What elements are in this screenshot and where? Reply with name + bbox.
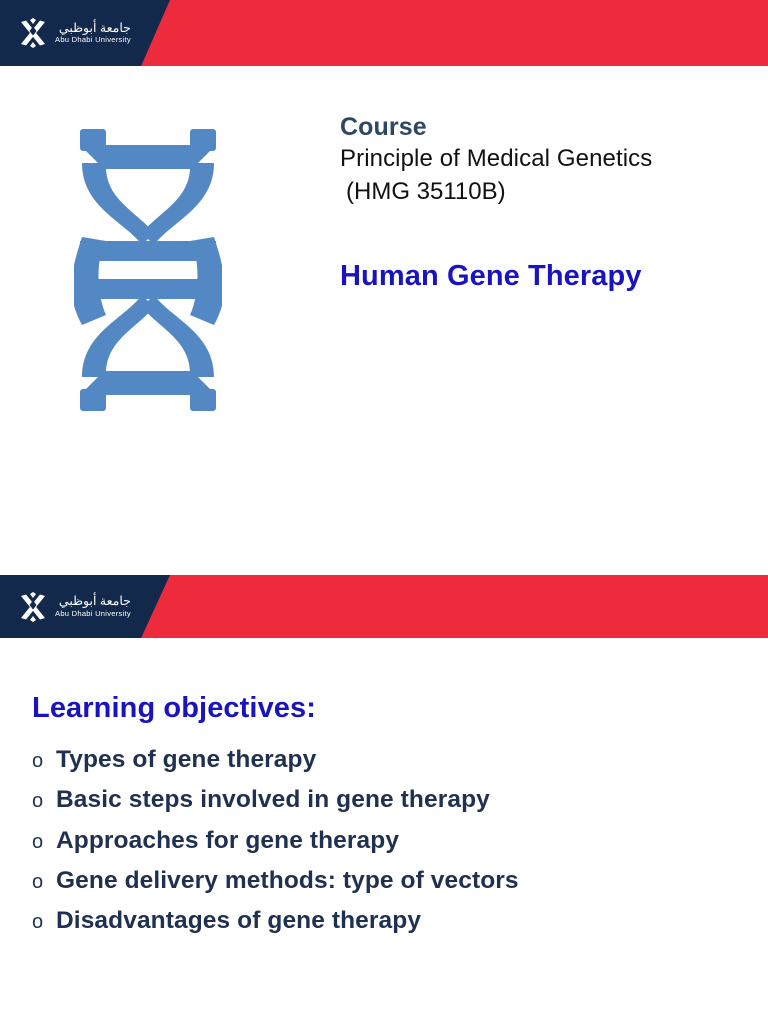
- bullet-o-icon: o: [32, 749, 45, 775]
- logo-english-name-2: Abu Dhabi University: [55, 610, 131, 618]
- logo-arabic-name: جامعة أبوظبي: [55, 22, 131, 35]
- title-slide: Course Principle of Medical Genetics (HM…: [0, 66, 768, 575]
- list-item: o Types of gene therapy: [32, 744, 732, 775]
- university-logo-2: جامعة أبوظبي Abu Dhabi University: [18, 592, 131, 622]
- bullet-o-icon: o: [32, 789, 45, 815]
- slide-document: جامعة أبوظبي Abu Dhabi University: [0, 0, 768, 1024]
- objective-text: Disadvantages of gene therapy: [56, 905, 421, 936]
- brand-band-top: جامعة أبوظبي Abu Dhabi University: [0, 0, 768, 66]
- logo-wordmark-2: جامعة أبوظبي Abu Dhabi University: [55, 595, 131, 617]
- objective-text: Approaches for gene therapy: [56, 825, 399, 856]
- bullet-o-icon: o: [32, 870, 45, 896]
- brand-band-middle: جامعة أبوظبي Abu Dhabi University: [0, 575, 768, 638]
- course-code: (HMG 35110B): [340, 176, 740, 208]
- list-item: o Approaches for gene therapy: [32, 825, 732, 856]
- page-title: Human Gene Therapy: [340, 260, 642, 293]
- list-item: o Gene delivery methods: type of vectors: [32, 865, 732, 896]
- course-info-block: Course Principle of Medical Genetics (HM…: [340, 112, 740, 208]
- adu-logo-mark-icon-2: [18, 592, 48, 622]
- logo-arabic-name-2: جامعة أبوظبي: [55, 595, 131, 608]
- learning-objectives-slide: Learning objectives: o Types of gene the…: [0, 638, 768, 1024]
- university-logo: جامعة أبوظبي Abu Dhabi University: [18, 18, 131, 48]
- course-label: Course: [340, 112, 740, 143]
- dna-helix-graphic: [74, 129, 222, 411]
- objective-text: Types of gene therapy: [56, 744, 316, 775]
- course-name: Principle of Medical Genetics: [340, 143, 740, 175]
- objectives-heading: Learning objectives:: [32, 692, 316, 725]
- bullet-o-icon: o: [32, 830, 45, 856]
- logo-wordmark: جامعة أبوظبي Abu Dhabi University: [55, 22, 131, 44]
- bullet-o-icon: o: [32, 910, 45, 936]
- objective-text: Basic steps involved in gene therapy: [56, 784, 490, 815]
- adu-logo-mark-icon: [18, 18, 48, 48]
- objectives-list: o Types of gene therapy o Basic steps in…: [32, 744, 732, 946]
- objective-text: Gene delivery methods: type of vectors: [56, 865, 519, 896]
- dna-double-helix-icon: [74, 129, 222, 411]
- logo-english-name: Abu Dhabi University: [55, 36, 131, 44]
- list-item: o Basic steps involved in gene therapy: [32, 784, 732, 815]
- list-item: o Disadvantages of gene therapy: [32, 905, 732, 936]
